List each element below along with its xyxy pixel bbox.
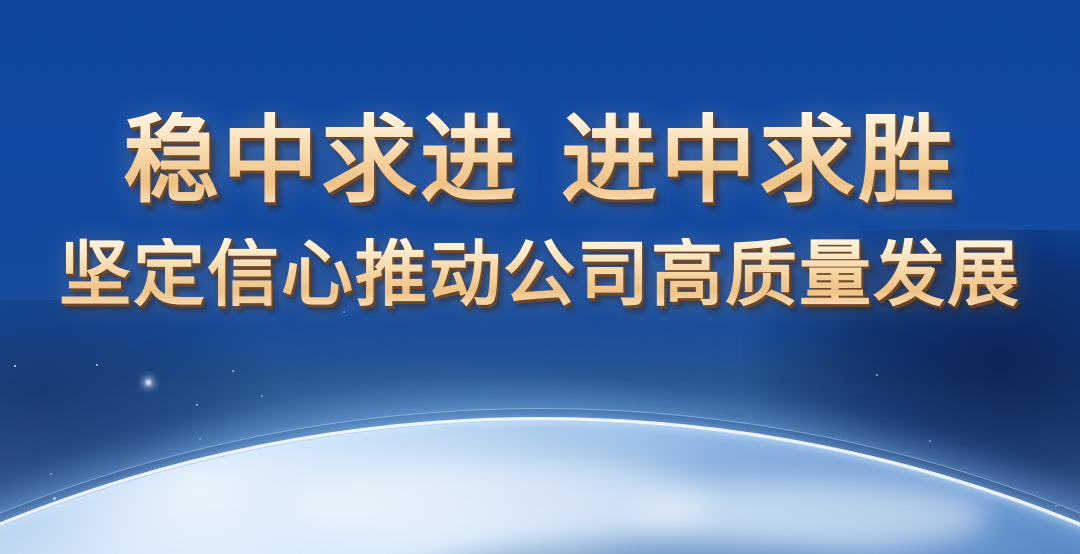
earth-surface-texture (0, 421, 1080, 554)
cloud-blob (630, 481, 990, 551)
poster-banner: 稳中求进 进中求胜 坚定信心推动公司高质量发展 (0, 0, 1080, 554)
earth-sphere (0, 421, 1080, 554)
earth-scene (0, 0, 1080, 554)
